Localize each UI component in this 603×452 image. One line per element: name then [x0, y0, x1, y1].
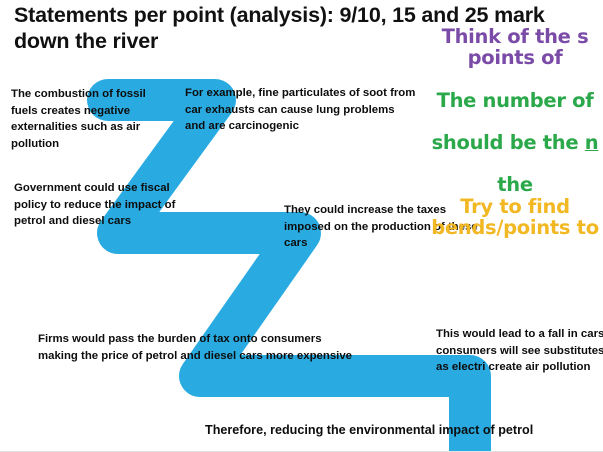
statement-box-1: The combustion of fossil fuels creates n… — [11, 86, 171, 153]
slide-canvas: Statements per point (analysis): 9/10, 1… — [0, 0, 603, 452]
note-green-line-1: The number of — [437, 89, 594, 112]
note-orange: Try to find bends/points to — [360, 196, 603, 238]
note-green: The number of should be the n the — [360, 69, 603, 195]
statement-box-5: Firms would pass the burden of tax onto … — [38, 331, 358, 364]
annotation-notes: Think of the s points of The number of s… — [360, 26, 603, 238]
note-green-underlined: n — [585, 131, 599, 154]
note-purple: Think of the s points of — [360, 26, 603, 68]
conclusion-text: Therefore, reducing the environmental im… — [205, 422, 603, 438]
note-green-line-2-prefix: should be the — [432, 131, 585, 154]
statement-box-6: This would lead to a fall in cars as con… — [436, 326, 603, 376]
statement-box-3: Government could use fiscal policy to re… — [14, 180, 194, 230]
note-green-line-3: the — [497, 173, 533, 196]
